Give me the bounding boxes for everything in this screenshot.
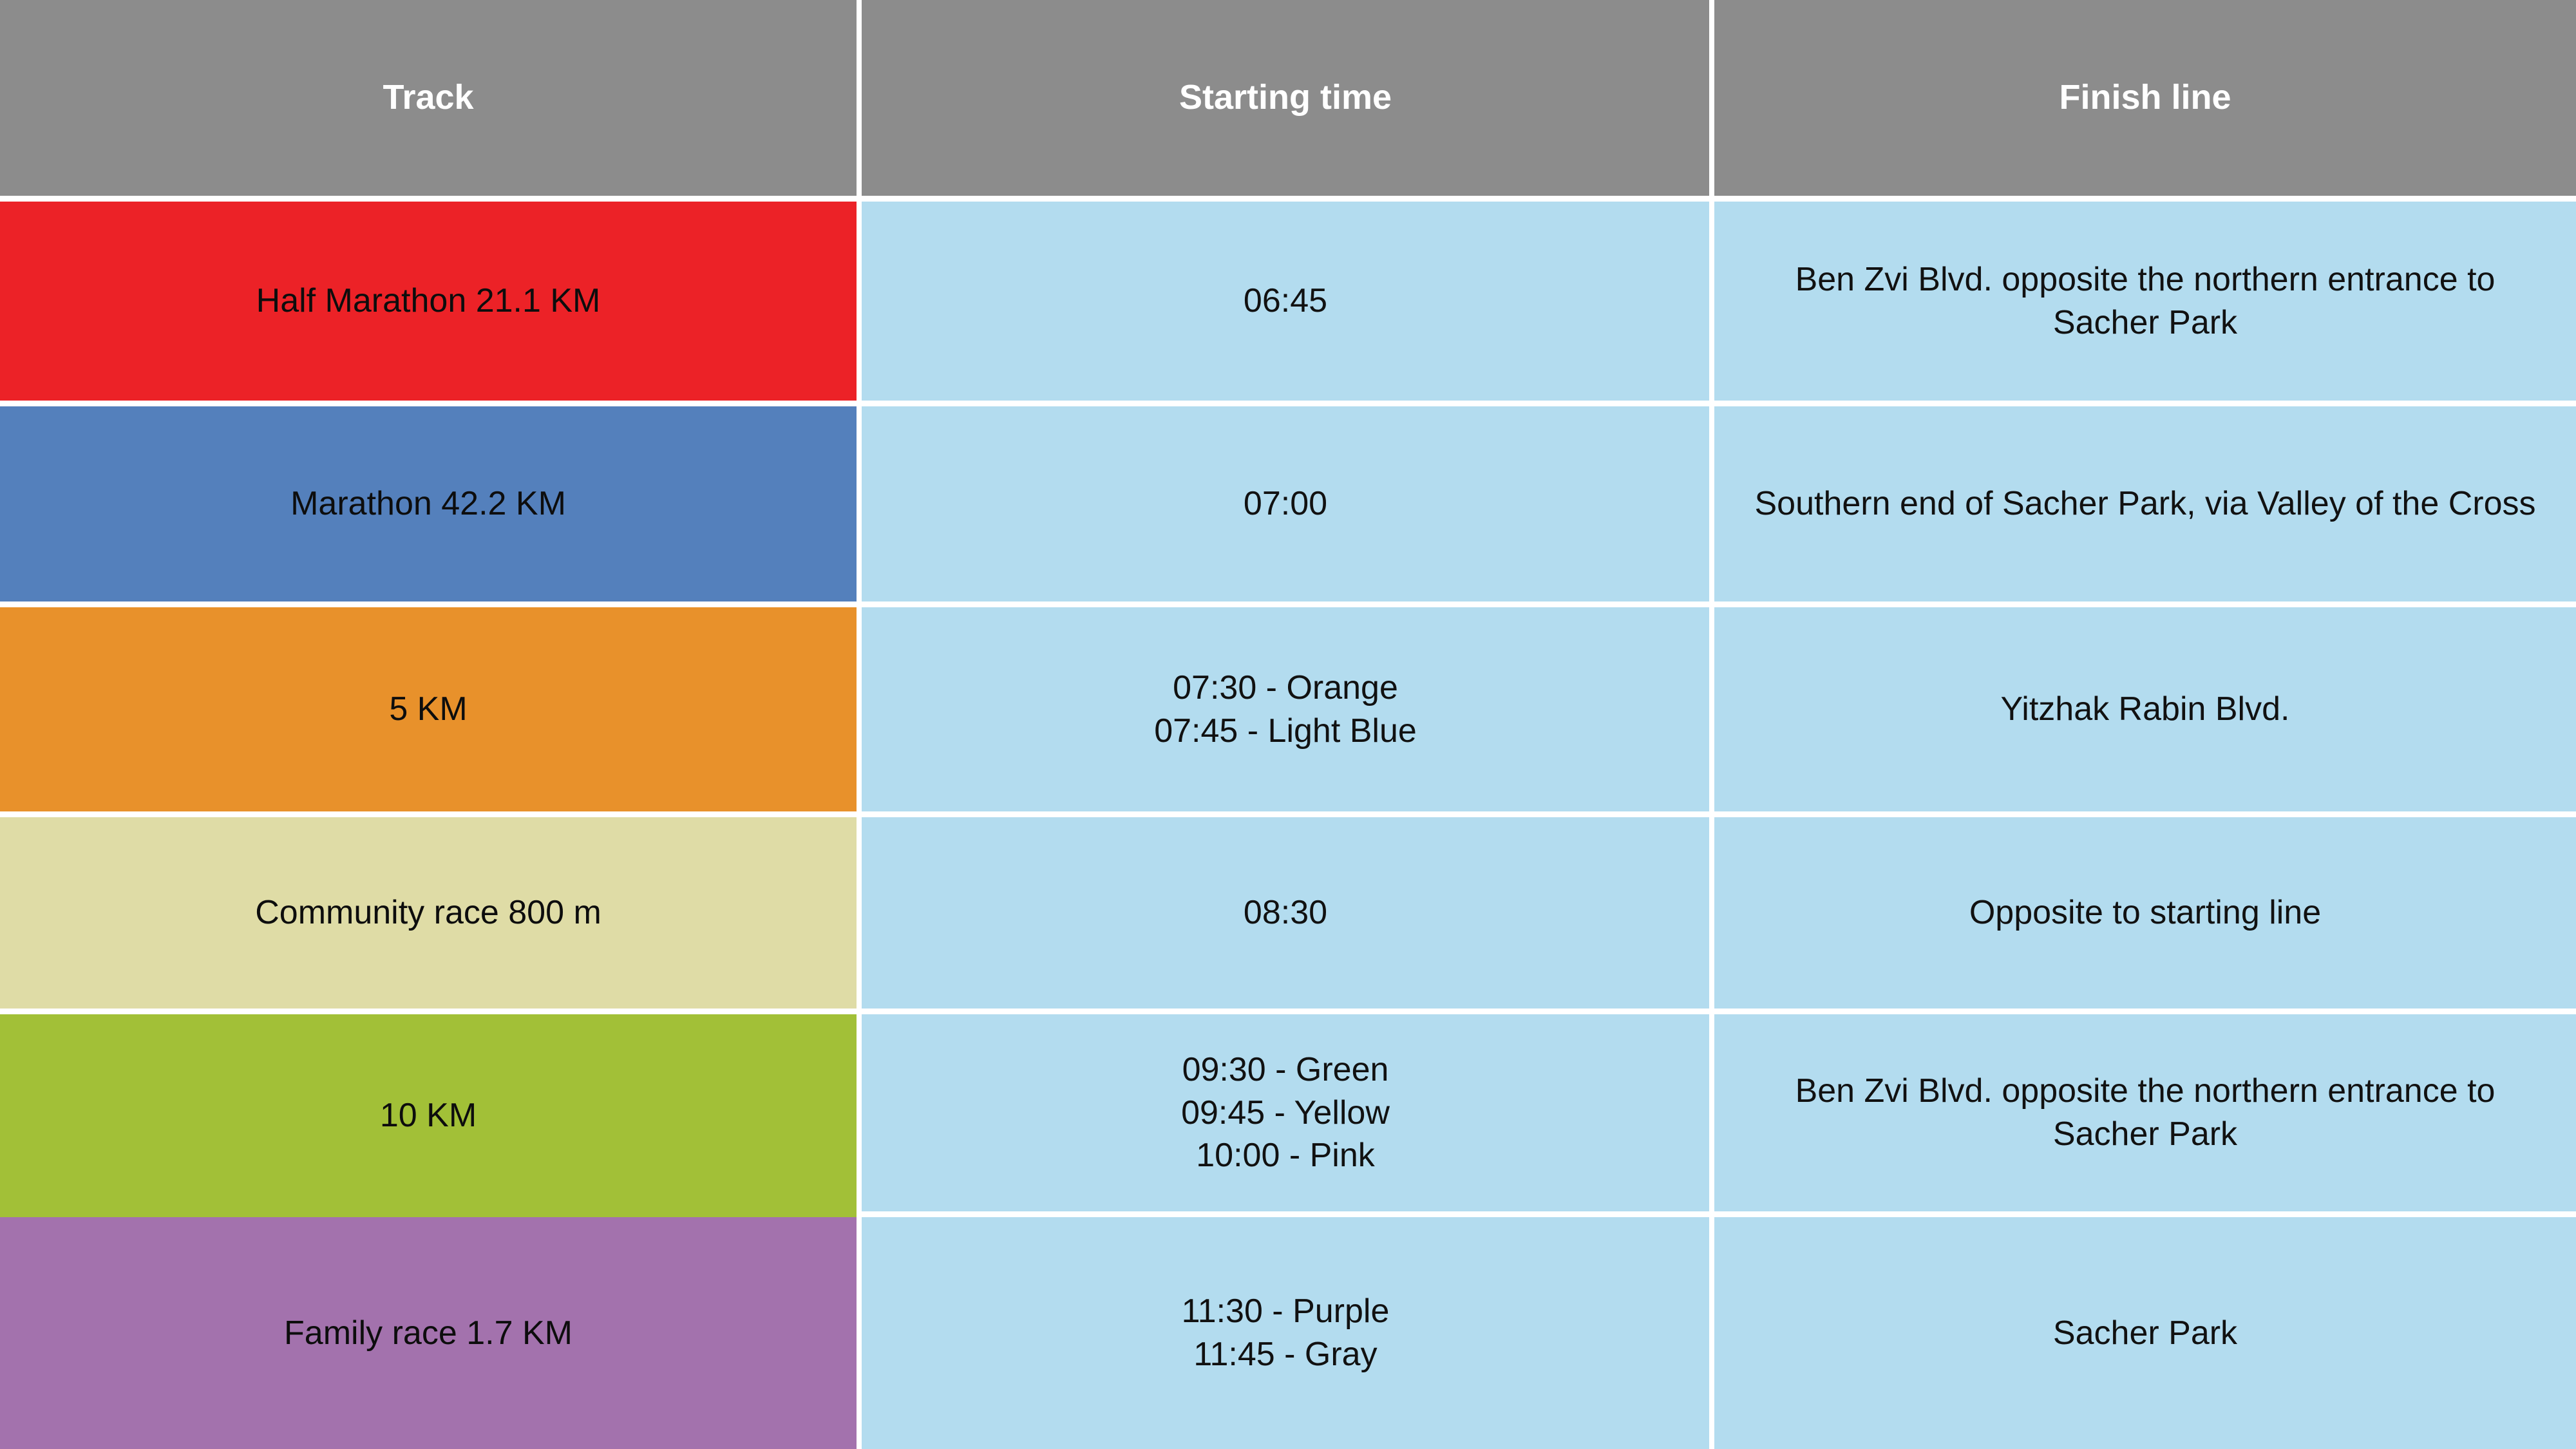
track-label: Community race 800 m: [255, 891, 601, 934]
column-header-starting-time-label: Starting time: [1179, 75, 1392, 120]
table-row-finish-cell: Opposite to starting line: [1714, 817, 2576, 1014]
finish-line-value: Southern end of Sacher Park, via Valley …: [1754, 482, 2535, 526]
starting-time-value: 09:30 - Green 09:45 - Yellow 10:00 - Pin…: [1181, 1048, 1390, 1177]
track-label: Family race 1.7 KM: [284, 1312, 573, 1355]
table-row-start-cell: 06:45: [862, 202, 1714, 406]
column-header-track-label: Track: [383, 75, 473, 120]
table-row-finish-cell: Sacher Park: [1714, 1217, 2576, 1449]
starting-time-value: 07:30 - Orange 07:45 - Light Blue: [1154, 667, 1417, 752]
finish-line-value: Ben Zvi Blvd. opposite the northern entr…: [1740, 258, 2550, 344]
table-row-finish-cell: Southern end of Sacher Park, via Valley …: [1714, 406, 2576, 607]
table-row-finish-cell: Yitzhak Rabin Blvd.: [1714, 607, 2576, 817]
race-schedule-table: Track Starting time Finish line Half Mar…: [0, 0, 2576, 1449]
track-label: Half Marathon 21.1 KM: [256, 279, 601, 323]
starting-time-value: 08:30: [1244, 891, 1327, 934]
finish-line-value: Ben Zvi Blvd. opposite the northern entr…: [1740, 1070, 2550, 1155]
finish-line-value: Yitzhak Rabin Blvd.: [2001, 688, 2290, 731]
table-row-start-cell: 09:30 - Green 09:45 - Yellow 10:00 - Pin…: [862, 1014, 1714, 1217]
table-row-track-cell: Marathon 42.2 KM: [0, 406, 862, 607]
column-header-finish-line: Finish line: [1714, 0, 2576, 202]
table-row-finish-cell: Ben Zvi Blvd. opposite the northern entr…: [1714, 1014, 2576, 1217]
track-label: 10 KM: [380, 1094, 477, 1137]
column-header-finish-line-label: Finish line: [2059, 75, 2231, 120]
table-row-track-cell: Half Marathon 21.1 KM: [0, 202, 862, 406]
table-row-start-cell: 07:00: [862, 406, 1714, 607]
finish-line-value: Sacher Park: [2053, 1312, 2237, 1355]
table-row-track-cell: 10 KM: [0, 1014, 862, 1217]
table-row-finish-cell: Ben Zvi Blvd. opposite the northern entr…: [1714, 202, 2576, 406]
table-row-start-cell: 08:30: [862, 817, 1714, 1014]
table-row-track-cell: Community race 800 m: [0, 817, 862, 1014]
track-label: 5 KM: [389, 688, 467, 731]
track-label: Marathon 42.2 KM: [290, 482, 566, 526]
starting-time-value: 06:45: [1244, 279, 1327, 323]
table-row-start-cell: 11:30 - Purple 11:45 - Gray: [862, 1217, 1714, 1449]
starting-time-value: 07:00: [1244, 482, 1327, 526]
finish-line-value: Opposite to starting line: [1969, 891, 2321, 934]
table-row-start-cell: 07:30 - Orange 07:45 - Light Blue: [862, 607, 1714, 817]
table-row-track-cell: 5 KM: [0, 607, 862, 817]
column-header-starting-time: Starting time: [862, 0, 1714, 202]
column-header-track: Track: [0, 0, 862, 202]
table-row-track-cell: Family race 1.7 KM: [0, 1217, 862, 1449]
starting-time-value: 11:30 - Purple 11:45 - Gray: [1182, 1290, 1390, 1376]
